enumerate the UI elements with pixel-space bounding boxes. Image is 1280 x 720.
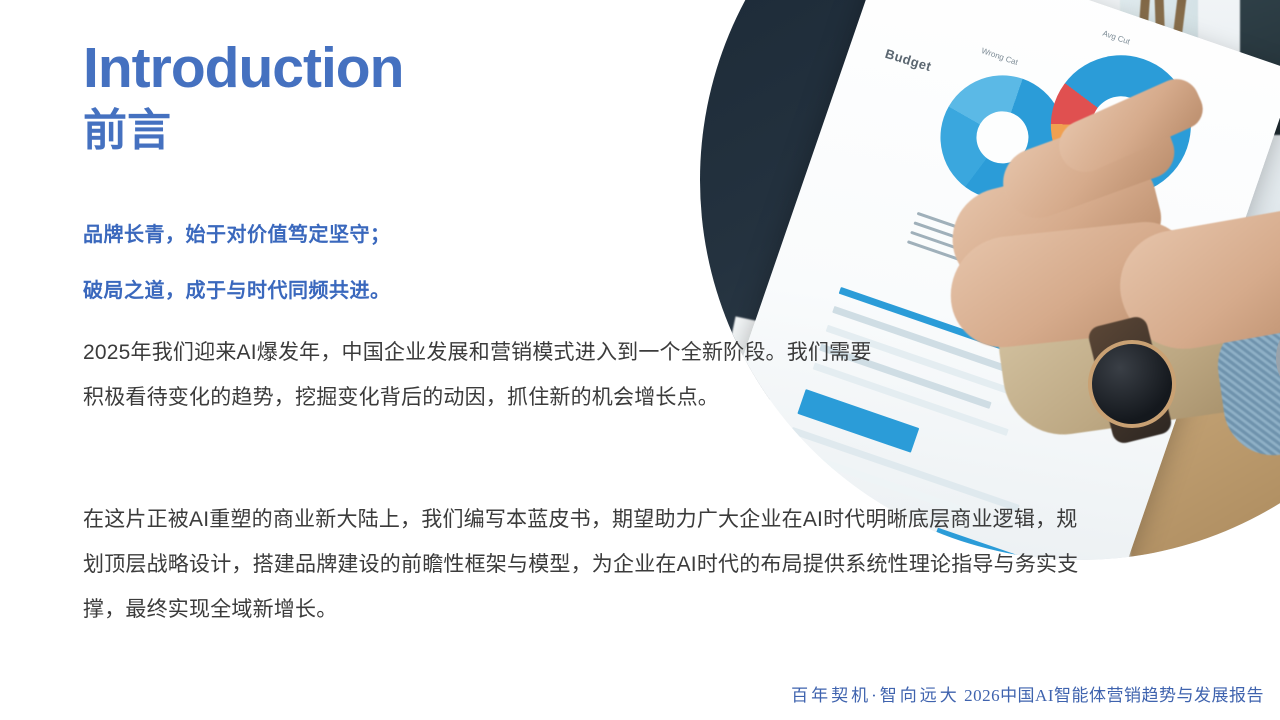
body-paragraph-2: 在这片正被AI重塑的商业新大陆上，我们编写本蓝皮书，期望助力广大企业在AI时代明… [83, 497, 1093, 632]
footer-report-title: 2026中国AI智能体营销趋势与发展报告 [964, 686, 1264, 705]
paper-heading: Budget [883, 46, 933, 74]
chart-label-left: Wrong Cat [980, 46, 1019, 67]
slide-footer: 百年契机·智向远大 2026中国AI智能体营销趋势与发展报告 [791, 681, 1264, 706]
lead-line-2: 破局之道，成于与时代同频共进。 [83, 274, 391, 303]
photo-scene: Budget Wrong Cat Avg Cut [700, 0, 1280, 560]
lead-line-1: 品牌长青，始于对价值笃定坚守； [83, 218, 391, 247]
watch-face-left [1088, 340, 1176, 428]
body-paragraph-1: 2025年我们迎来AI爆发年，中国企业发展和营销模式进入到一个全新阶段。我们需要… [83, 330, 873, 420]
footer-brand: 百年契机·智向远大 [791, 686, 960, 705]
slide-root: Budget Wrong Cat Avg Cut [0, 0, 1280, 720]
chart-label-right: Avg Cut [1101, 29, 1131, 47]
hero-photo: Budget Wrong Cat Avg Cut [700, 0, 1280, 560]
page-title-cn: 前言 [83, 106, 171, 157]
page-title-en: Introduction [83, 40, 403, 97]
